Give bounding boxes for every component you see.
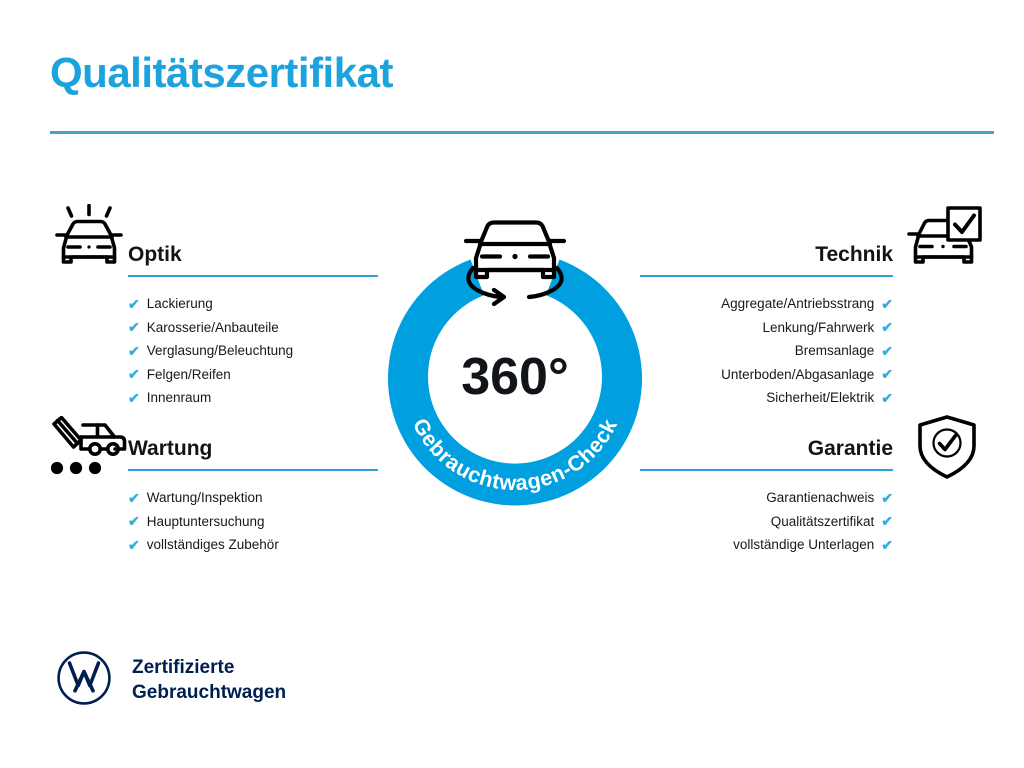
list-item: ✔Felgen/Reifen [128, 363, 378, 387]
section-title: Garantie [640, 434, 893, 464]
section-title: Optik [128, 240, 378, 270]
car-rotation-icon [466, 223, 564, 305]
check-icon: ✔ [881, 491, 893, 505]
list-item: ✔Hauptuntersuchung [128, 510, 378, 534]
vw-logo [56, 650, 112, 706]
section-title: Technik [640, 240, 893, 270]
section-title: Wartung [128, 434, 378, 464]
list-item: ✔Verglasung/Beleuchtung [128, 339, 378, 363]
list-item-label: Garantienachweis [766, 486, 874, 510]
section-header-optik: Optik [128, 240, 378, 280]
section-optik: Optik ✔Lackierung ✔Karosserie/Anbauteile… [128, 240, 378, 410]
list-item: ✔vollständiges Zubehör [128, 533, 378, 557]
check-icon: ✔ [128, 491, 140, 505]
list-item-label: Lenkung/Fahrwerk [762, 316, 874, 340]
section-divider [128, 275, 378, 277]
list-item: Lenkung/Fahrwerk✔ [640, 316, 893, 340]
vw-wordmark-line1: Zertifizierte [132, 655, 286, 680]
list-item: vollständige Unterlagen✔ [640, 533, 893, 557]
list-item-label: Wartung/Inspektion [147, 486, 263, 510]
list-item-label: Lackierung [147, 292, 213, 316]
section-divider [640, 275, 893, 277]
check-icon: ✔ [128, 391, 140, 405]
list-item-label: vollständige Unterlagen [733, 533, 874, 557]
shield-check-icon [914, 414, 980, 480]
title-divider [50, 131, 994, 134]
check-icon: ✔ [881, 344, 893, 358]
check-icon: ✔ [128, 297, 140, 311]
section-divider [640, 469, 893, 471]
list-item-label: Unterboden/Abgasanlage [721, 363, 874, 387]
list-item: ✔Wartung/Inspektion [128, 486, 378, 510]
list-item: Bremsanlage✔ [640, 339, 893, 363]
badge-center-label: 360° [461, 348, 569, 406]
check-icon: ✔ [128, 344, 140, 358]
check-icon: ✔ [881, 514, 893, 528]
page-title: Qualitätszertifikat [50, 50, 393, 96]
section-header-wartung: Wartung [128, 434, 378, 474]
car-checkbox-icon [906, 204, 986, 274]
check-icon: ✔ [128, 367, 140, 381]
list-item: ✔Karosserie/Anbauteile [128, 316, 378, 340]
list-item-label: Karosserie/Anbauteile [147, 316, 279, 340]
list-item: ✔Innenraum [128, 386, 378, 410]
check-list-optik: ✔Lackierung ✔Karosserie/Anbauteile ✔Verg… [128, 292, 378, 410]
list-item: Aggregate/Antriebsstrang✔ [640, 292, 893, 316]
list-item: Garantienachweis✔ [640, 486, 893, 510]
list-item-label: Aggregate/Antriebsstrang [721, 292, 874, 316]
check-icon: ✔ [881, 367, 893, 381]
check-icon: ✔ [128, 320, 140, 334]
section-wartung: Wartung ✔Wartung/Inspektion ✔Hauptunters… [128, 434, 378, 557]
check-list-technik: Aggregate/Antriebsstrang✔ Lenkung/Fahrwe… [640, 292, 893, 410]
check-icon: ✔ [128, 514, 140, 528]
list-item-label: Felgen/Reifen [147, 363, 231, 387]
check-icon: ✔ [128, 538, 140, 552]
check-list-garantie: Garantienachweis✔ Qualitätszertifikat✔ v… [640, 486, 893, 557]
list-item-label: Qualitätszertifikat [771, 510, 875, 534]
check-icon: ✔ [881, 320, 893, 334]
list-item-label: Verglasung/Beleuchtung [147, 339, 293, 363]
car-shine-icon [48, 204, 130, 274]
check-icon: ✔ [881, 391, 893, 405]
certificate-page: Qualitätszertifikat [0, 0, 1024, 768]
vw-wordmark-line2: Gebrauchtwagen [132, 680, 286, 705]
vw-wordmark: Zertifizierte Gebrauchtwagen [132, 655, 286, 705]
list-item: Qualitätszertifikat✔ [640, 510, 893, 534]
check-icon: ✔ [881, 297, 893, 311]
section-divider [128, 469, 378, 471]
list-item-label: Sicherheit/Elektrik [766, 386, 874, 410]
section-header-garantie: Garantie [640, 434, 893, 474]
section-garantie: Garantie Garantienachweis✔ Qualitätszert… [640, 434, 893, 557]
list-item: Unterboden/Abgasanlage✔ [640, 363, 893, 387]
check-list-wartung: ✔Wartung/Inspektion ✔Hauptuntersuchung ✔… [128, 486, 378, 557]
list-item-label: Hauptuntersuchung [147, 510, 265, 534]
check-icon: ✔ [881, 538, 893, 552]
list-item-label: Innenraum [147, 386, 212, 410]
section-header-technik: Technik [640, 240, 893, 280]
pen-car-service-icon [45, 416, 129, 478]
list-item-label: vollständiges Zubehör [147, 533, 279, 557]
360-check-badge: 360° Gebrauchtwagen-Check [370, 196, 660, 506]
list-item: ✔Lackierung [128, 292, 378, 316]
list-item-label: Bremsanlage [795, 339, 875, 363]
list-item: Sicherheit/Elektrik✔ [640, 386, 893, 410]
section-technik: Technik Aggregate/Antriebsstrang✔ Lenkun… [640, 240, 893, 410]
